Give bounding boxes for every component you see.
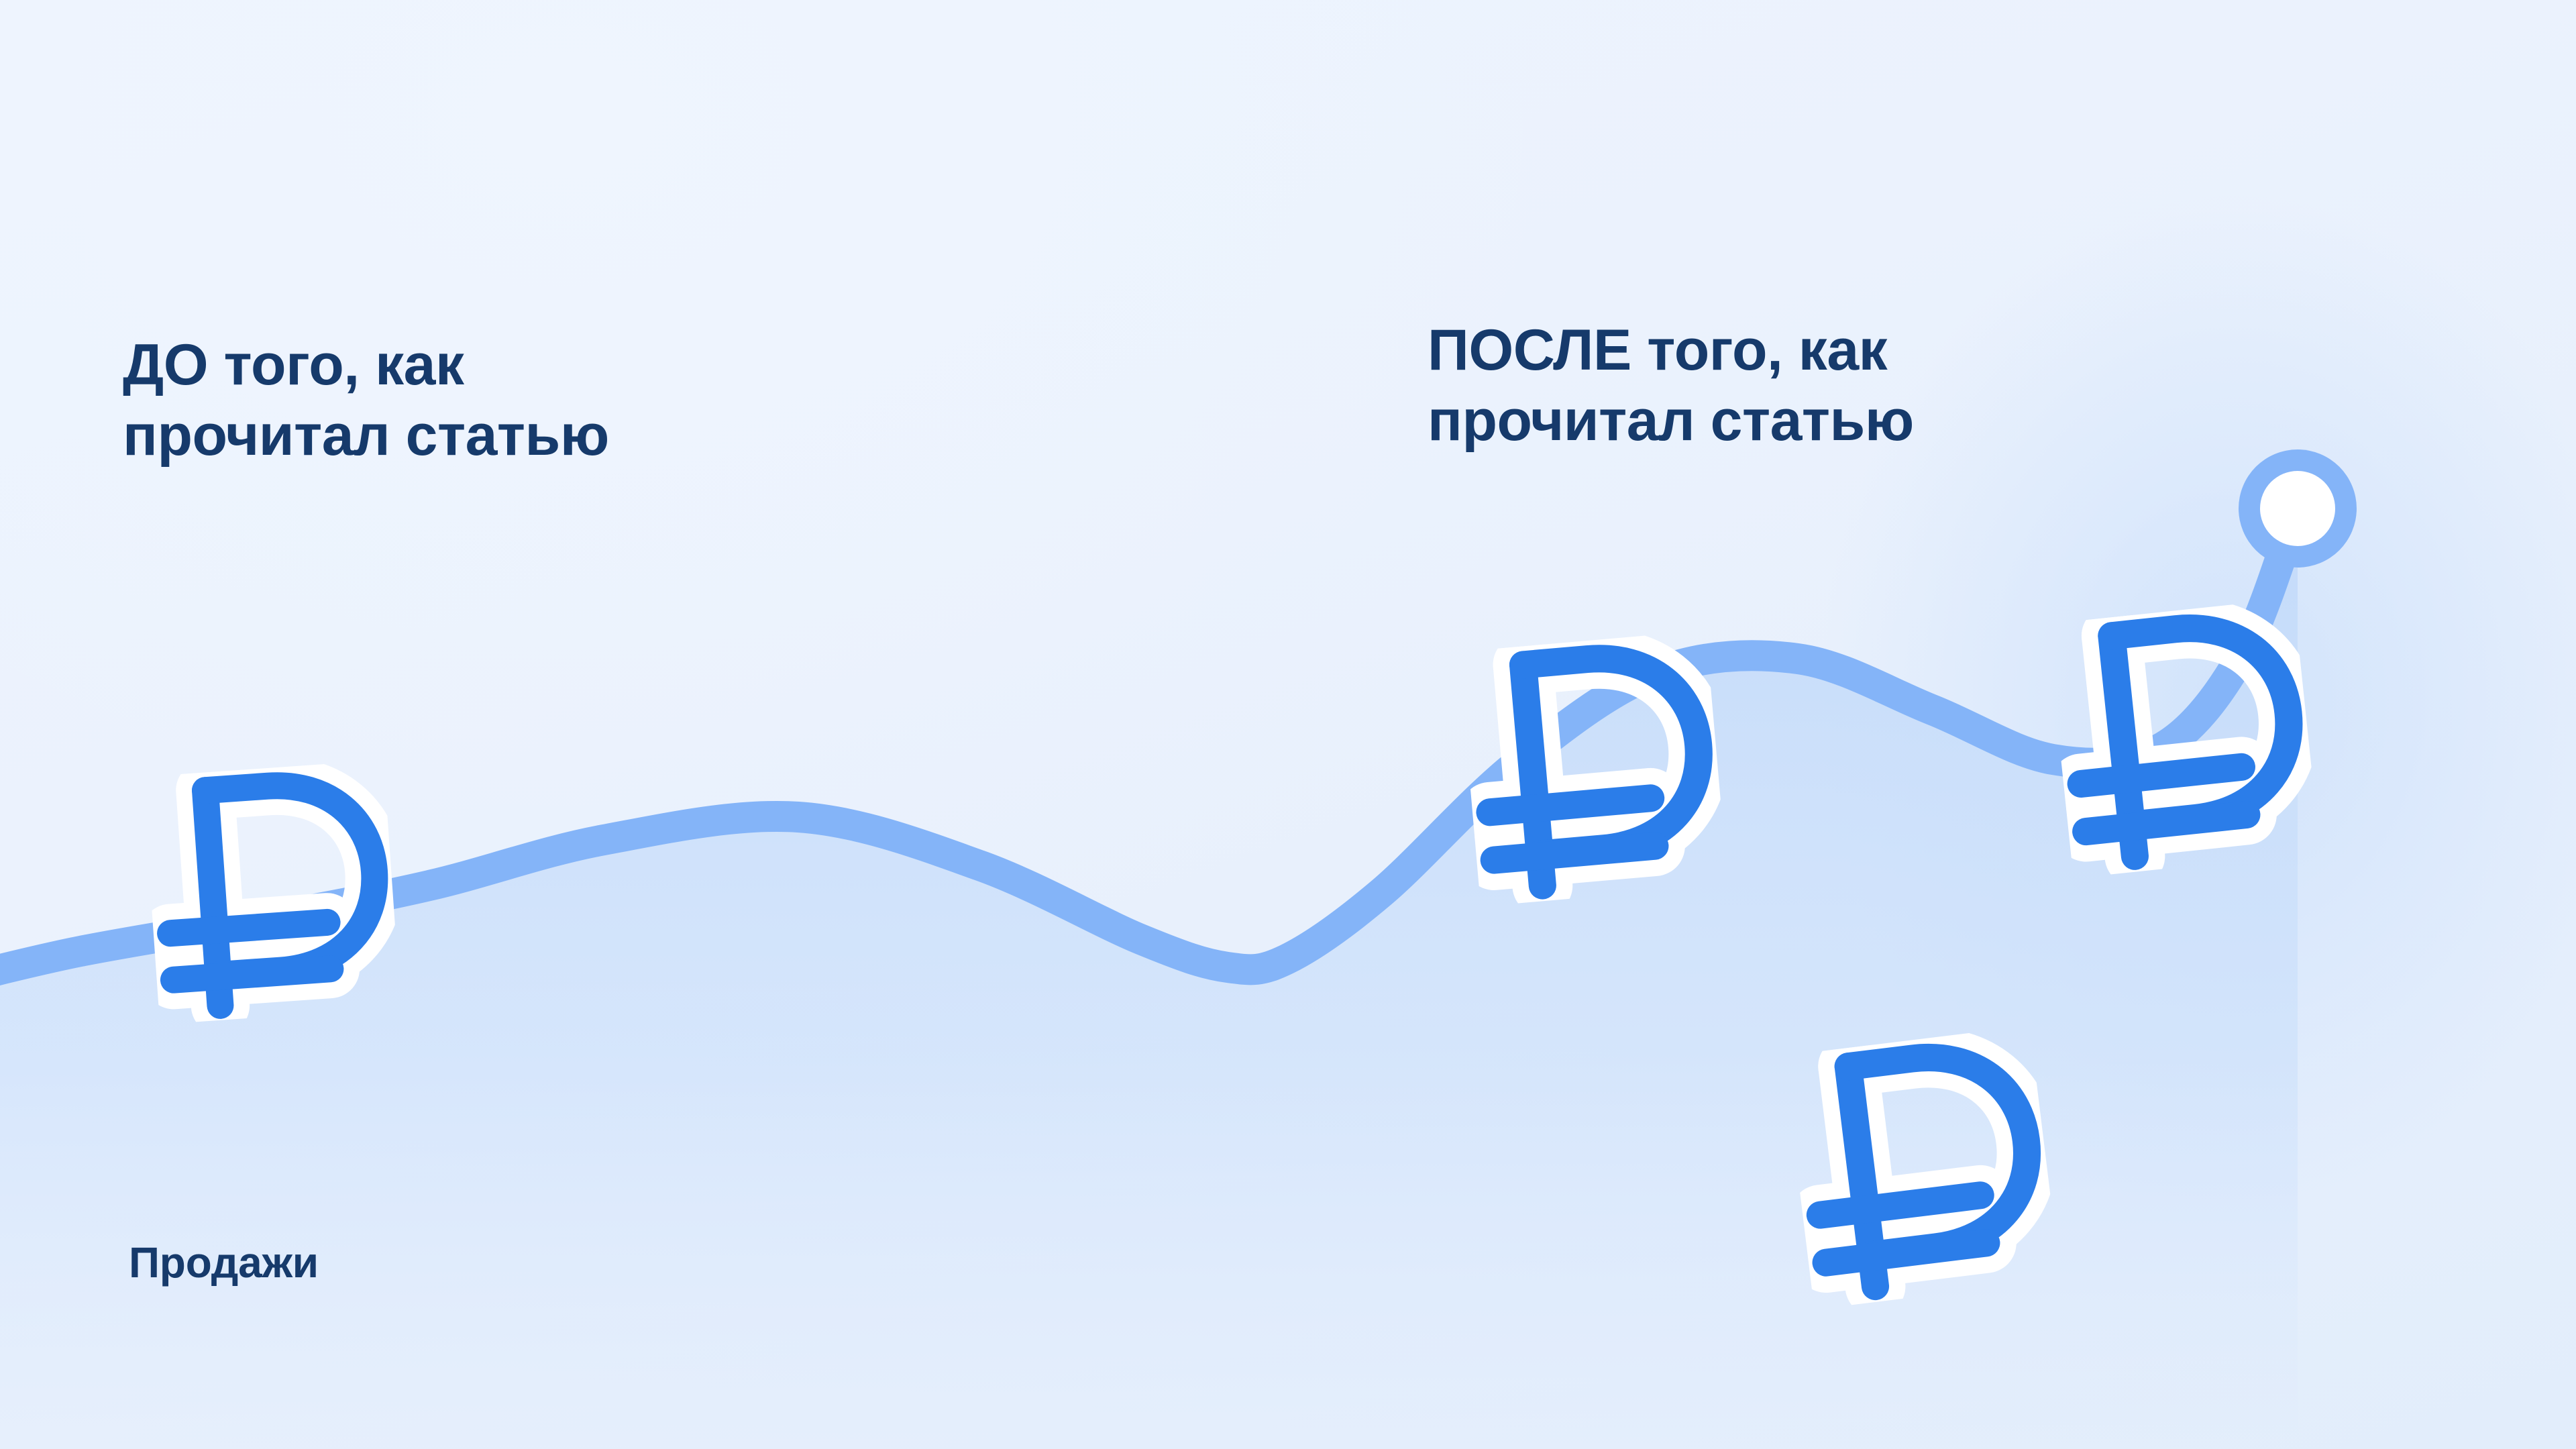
ruble-sign-icon [143,760,401,1025]
ruble-marker-3 [2047,598,2320,878]
endpoint-dot-icon [2239,449,2357,568]
headline-before: ДО того, как прочитал статью [123,330,609,471]
ruble-sign-icon [1458,631,1728,906]
ruble-sign-icon [1783,1026,2061,1309]
y-axis-label: Продажи [129,1238,319,1287]
headline-after: ПОСЛЕ того, как прочитал статью [1428,315,1914,456]
ruble-marker-4 [1783,1026,2061,1309]
infographic-canvas: ДО того, как прочитал статью ПОСЛЕ того,… [0,0,2576,1449]
ruble-sign-icon [2047,598,2320,878]
ruble-marker-2 [1458,631,1728,906]
ruble-marker-1 [143,760,401,1025]
